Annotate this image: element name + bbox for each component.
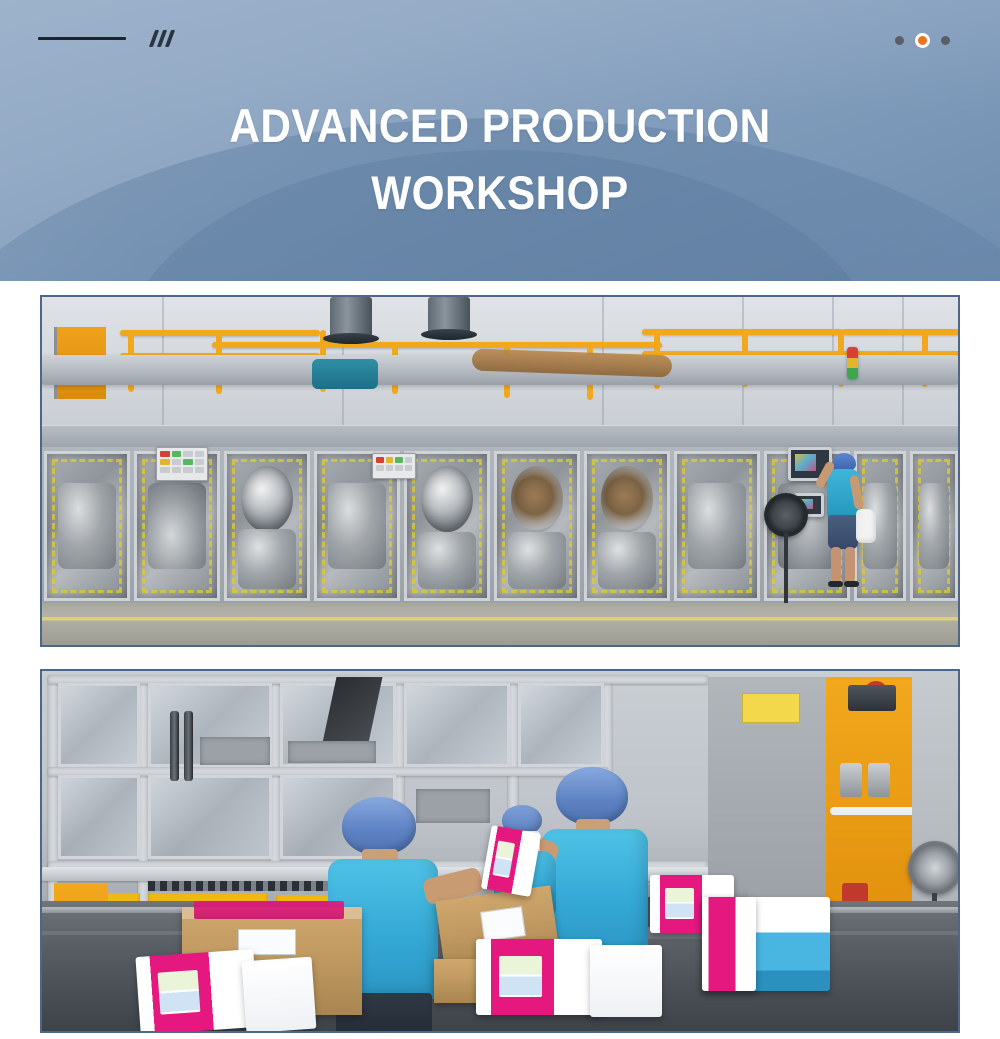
- page-title: ADVANCED PRODUCTION WORKSHOP: [50, 92, 950, 226]
- photo-packing-line: [42, 671, 958, 1031]
- slash-marks-icon: [152, 30, 172, 47]
- photo-gallery: [0, 281, 1000, 1039]
- machine-info-label: [742, 693, 800, 723]
- worker-shorts: [828, 515, 858, 549]
- horizontal-rule-icon: [38, 37, 126, 40]
- product-package-1: [135, 949, 258, 1033]
- pagination-dot-1[interactable]: [895, 36, 904, 45]
- product-package-1-white-end: [242, 957, 317, 1033]
- product-bag: [856, 509, 876, 543]
- product-package-4-pink-end: [702, 897, 756, 991]
- header-decor-left: [38, 30, 172, 47]
- pagination-dot-3[interactable]: [941, 36, 950, 45]
- pedestal-fan: [764, 493, 808, 537]
- page-title-line-1: ADVANCED PRODUCTION: [50, 92, 950, 159]
- photo-card-production-line[interactable]: [40, 295, 960, 647]
- control-panel-middle[interactable]: [372, 453, 416, 479]
- workshop-floor: [42, 603, 958, 645]
- page-title-line-2: WORKSHOP: [50, 159, 950, 226]
- floor-fan: [908, 841, 960, 895]
- worker-hairnet-right: [556, 767, 628, 825]
- pagination-dot-2-active[interactable]: [915, 33, 930, 48]
- slide-pagination-dots[interactable]: [895, 33, 950, 48]
- photo-card-packing-line[interactable]: [40, 669, 960, 1033]
- product-package-2: [476, 939, 602, 1015]
- photo-production-line: [42, 297, 958, 645]
- worker-hairnet-left: [342, 797, 416, 855]
- worker-cap: [832, 453, 856, 470]
- hero-banner: ADVANCED PRODUCTION WORKSHOP: [0, 0, 1000, 281]
- carton-shipping-label-center: [480, 906, 526, 942]
- product-package-2-white-end: [590, 945, 662, 1017]
- control-panel-left[interactable]: [156, 447, 208, 481]
